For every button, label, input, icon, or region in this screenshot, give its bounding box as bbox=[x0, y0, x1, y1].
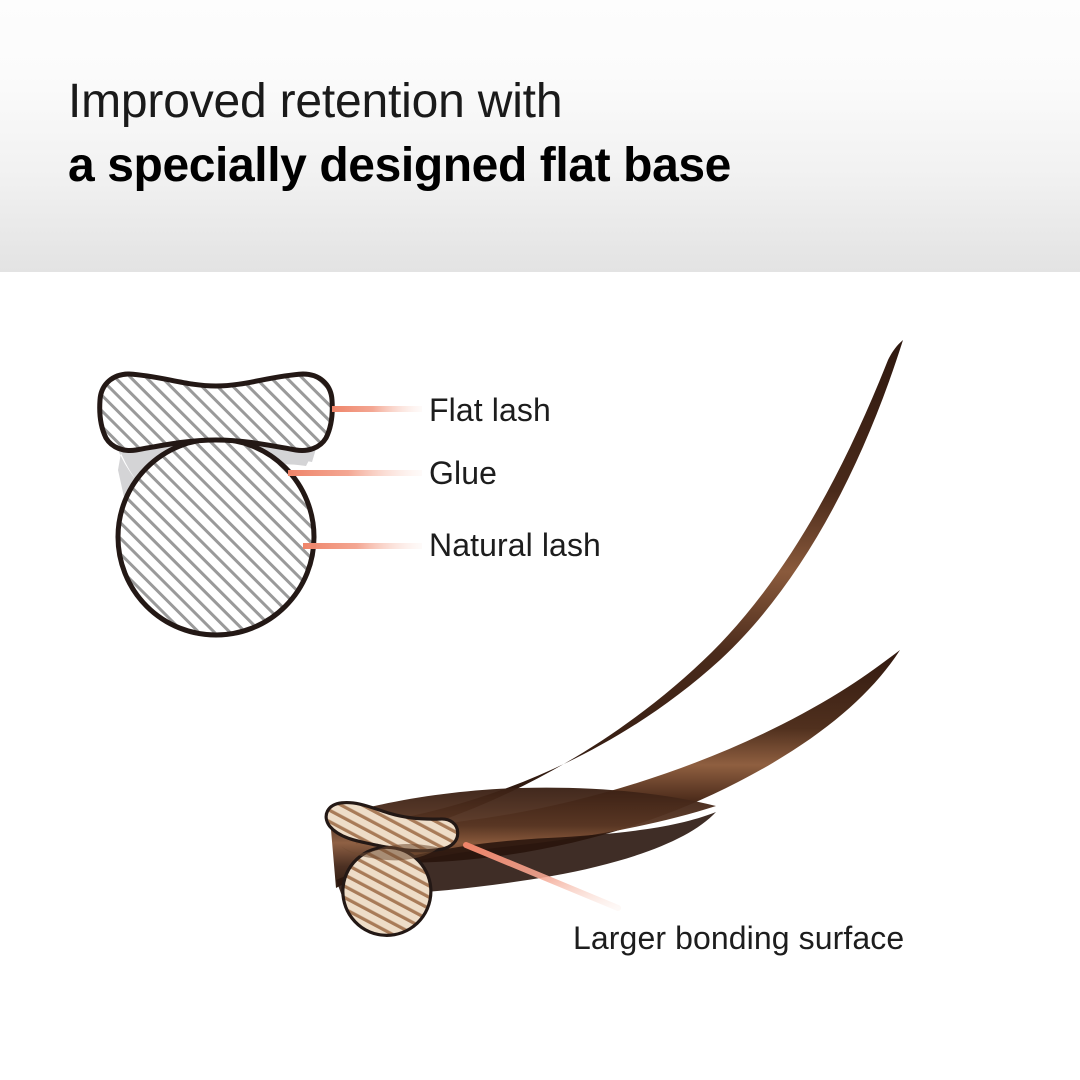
leader-line-glue bbox=[288, 470, 422, 476]
label-natural-lash: Natural lash bbox=[429, 527, 601, 564]
leader-line-natural-lash bbox=[303, 543, 422, 549]
infographic-canvas: Improved retention with a specially desi… bbox=[0, 0, 1080, 1080]
lash-fiber-group bbox=[330, 340, 903, 896]
natural-lash-shape bbox=[118, 439, 314, 635]
label-glue: Glue bbox=[429, 455, 497, 492]
leader-line-flat-lash bbox=[332, 406, 422, 412]
flat-lash-shape bbox=[100, 374, 333, 451]
label-flat-lash: Flat lash bbox=[429, 392, 551, 429]
top-cross-section bbox=[100, 374, 333, 635]
label-larger-bonding-surface: Larger bonding surface bbox=[573, 920, 904, 957]
